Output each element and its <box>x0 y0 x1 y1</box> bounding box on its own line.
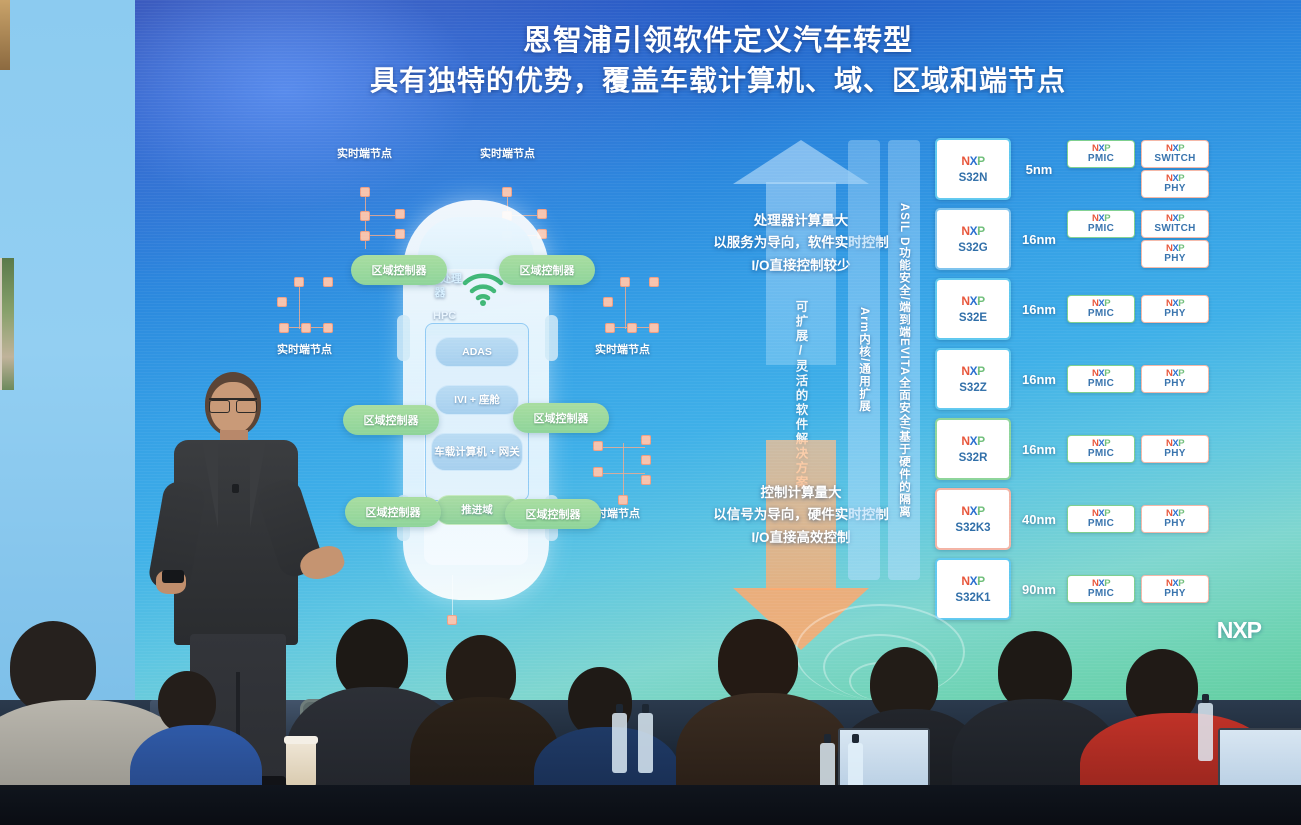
endpoint-label: 实时端节点 <box>595 341 650 357</box>
endpoint-label: 实时端节点 <box>480 145 535 161</box>
accessory-phy: NXP PHY <box>1141 505 1209 533</box>
chip-name: S32K3 <box>955 522 990 534</box>
chip-name: S32N <box>959 172 988 184</box>
chip-row: NXP S32Z 16nm NXP PMIC NXP PHY <box>935 348 1265 410</box>
accessory-label: PHY <box>1164 183 1185 194</box>
chip-box: NXP S32G <box>935 208 1011 270</box>
accessory-pmic: NXP PMIC <box>1067 210 1135 238</box>
chip-name: S32E <box>959 312 987 324</box>
accessory-label: PHY <box>1164 588 1185 599</box>
wall-artwork <box>0 258 14 390</box>
presentation-clicker <box>162 570 184 583</box>
nxp-logo-icon: NXP <box>961 505 984 517</box>
coffee-cup[interactable] <box>286 741 316 789</box>
chip-row: NXP S32G 16nm NXP PMIC NXP SWITCH <box>935 208 1265 270</box>
chip-portfolio-table: NXP S32N 5nm NXP PMIC NXP SWITCH <box>935 138 1265 628</box>
accessory-label: PMIC <box>1088 588 1114 599</box>
nxp-logo-icon: NXP <box>961 435 984 447</box>
accessory-pmic: NXP PMIC <box>1067 435 1135 463</box>
nxp-logo-icon: NXP <box>1092 299 1110 309</box>
process-node-label: 16nm <box>1011 302 1067 317</box>
nxp-logo-icon: NXP <box>961 575 984 587</box>
nxp-logo-icon: NXP <box>1092 579 1110 589</box>
accessory-phy: NXP PHY <box>1141 365 1209 393</box>
chip-box: NXP S32Z <box>935 348 1011 410</box>
jacket-lapel-left <box>202 442 218 528</box>
accessory-pmic: NXP PMIC <box>1067 295 1135 323</box>
nxp-logo-icon: NXP <box>1166 299 1184 309</box>
slide-title-line1: 恩智浦引领软件定义汽车转型 <box>135 22 1301 61</box>
accessory-label: SWITCH <box>1154 223 1195 234</box>
nxp-logo-icon: NXP <box>1166 579 1184 589</box>
wall-artwork-upper <box>0 0 10 70</box>
accessory-label: PMIC <box>1088 223 1114 234</box>
audience-table <box>0 785 1301 825</box>
chip-box: NXP S32N <box>935 138 1011 200</box>
hpc-block-ivi: IVI + 座舱 <box>435 385 519 415</box>
nxp-logo-icon: NXP <box>1166 174 1184 184</box>
water-bottle[interactable] <box>612 713 627 773</box>
chip-name: S32R <box>959 452 988 464</box>
hpc-block-vehicle-computer: 车载计算机 + 网关 <box>431 433 523 471</box>
feature-column-functional-safety: ASIL D功能安全/端到端EVITA全面安全/基于硬件的隔离 <box>888 140 920 580</box>
nxp-logo-icon: NXP <box>1166 214 1184 224</box>
feature-column-arm-core: Arm内核/通用扩展 <box>848 140 880 580</box>
wifi-icon <box>461 271 505 307</box>
accessory-label: SWITCH <box>1154 153 1195 164</box>
hpc-label: HPC <box>433 310 456 322</box>
nxp-logo-icon: NXP <box>1092 509 1110 519</box>
accessory-phy: NXP PHY <box>1141 240 1209 268</box>
chip-box: NXP S32K3 <box>935 488 1011 550</box>
accessory-label: PHY <box>1164 378 1185 389</box>
zone-controller-oval: 区域控制器 <box>505 499 601 529</box>
accessory-label: PMIC <box>1088 448 1114 459</box>
accessory-pmic: NXP PMIC <box>1067 365 1135 393</box>
nxp-logo-icon: NXP <box>1166 369 1184 379</box>
process-node-label: 16nm <box>1011 372 1067 387</box>
vehicle-wheel <box>397 315 410 361</box>
nxp-logo-icon: NXP <box>961 155 984 167</box>
accessory-label: PMIC <box>1088 518 1114 529</box>
accessory-switch: NXP SWITCH <box>1141 140 1209 168</box>
nxp-logo-icon: NXP <box>961 295 984 307</box>
water-bottle[interactable] <box>1198 703 1213 761</box>
chip-name: S32Z <box>959 382 987 394</box>
nxp-logo-icon: NXP <box>1092 144 1110 154</box>
process-node-label: 5nm <box>1011 162 1067 177</box>
water-bottle[interactable] <box>638 713 653 773</box>
endpoint-label: 实时端节点 <box>277 341 332 357</box>
chip-box: NXP S32E <box>935 278 1011 340</box>
chip-row: NXP S32N 5nm NXP PMIC NXP SWITCH <box>935 138 1265 200</box>
hpc-block-adas: ADAS <box>435 337 519 367</box>
zone-controller-oval: 区域控制器 <box>351 255 447 285</box>
chip-name: S32G <box>958 242 987 254</box>
nxp-logo-icon: NXP <box>961 365 984 377</box>
audience <box>0 612 1301 825</box>
nxp-logo-icon: NXP <box>1166 244 1184 254</box>
accessory-pmic: NXP PMIC <box>1067 505 1135 533</box>
chip-name: S32K1 <box>955 592 990 604</box>
process-node-label: 40nm <box>1011 512 1067 527</box>
accessory-label: PHY <box>1164 448 1185 459</box>
nxp-logo-icon: NXP <box>961 225 984 237</box>
nxp-logo-icon: NXP <box>1166 144 1184 154</box>
accessory-phy: NXP PHY <box>1141 575 1209 603</box>
chip-row: NXP S32E 16nm NXP PMIC NXP PHY <box>935 278 1265 340</box>
left-wall-panel <box>0 0 140 700</box>
zone-controller-oval: 区域控制器 <box>513 403 609 433</box>
vehicle-wheel <box>545 315 558 361</box>
accessory-phy: NXP PHY <box>1141 295 1209 323</box>
process-node-label: 16nm <box>1011 442 1067 457</box>
eyeglasses <box>209 398 257 409</box>
zone-controller-oval: 区域控制器 <box>499 255 595 285</box>
accessory-pmic: NXP PMIC <box>1067 140 1135 168</box>
nxp-logo-icon: NXP <box>1166 439 1184 449</box>
conference-room-scene: 恩智浦引领软件定义汽车转型 具有独特的优势，覆盖车载计算机、域、区域和端节点 实… <box>0 0 1301 825</box>
nxp-logo-icon: NXP <box>1166 509 1184 519</box>
audience-head <box>158 671 216 733</box>
laptop-screen <box>1218 728 1301 792</box>
accessory-phy: NXP PHY <box>1141 435 1209 463</box>
accessory-label: PMIC <box>1088 378 1114 389</box>
accessory-label: PHY <box>1164 253 1185 264</box>
chip-row: NXP S32R 16nm NXP PMIC NXP PHY <box>935 418 1265 480</box>
accessory-pmic: NXP PMIC <box>1067 575 1135 603</box>
accessory-switch: NXP SWITCH <box>1141 210 1209 238</box>
accessory-label: PHY <box>1164 518 1185 529</box>
accessory-label: PMIC <box>1088 308 1114 319</box>
nxp-logo-icon: NXP <box>1092 214 1110 224</box>
accessory-label: PMIC <box>1088 153 1114 164</box>
chip-box: NXP S32R <box>935 418 1011 480</box>
lapel-microphone <box>232 484 239 493</box>
accessory-phy: NXP PHY <box>1141 170 1209 198</box>
chip-row: NXP S32K1 90nm NXP PMIC NXP PHY <box>935 558 1265 620</box>
nxp-logo-icon: NXP <box>1092 439 1110 449</box>
process-node-label: 90nm <box>1011 582 1067 597</box>
chip-row: NXP S32K3 40nm NXP PMIC NXP PHY <box>935 488 1265 550</box>
accessory-label: PHY <box>1164 308 1185 319</box>
chip-box: NXP S32K1 <box>935 558 1011 620</box>
endpoint-label: 实时端节点 <box>337 145 392 161</box>
slide-title-line2: 具有独特的优势，覆盖车载计算机、域、区域和端节点 <box>135 61 1301 102</box>
nxp-logo-icon: NXP <box>1092 369 1110 379</box>
process-node-label: 16nm <box>1011 232 1067 247</box>
slide-title: 恩智浦引领软件定义汽车转型 具有独特的优势，覆盖车载计算机、域、区域和端节点 <box>135 22 1301 102</box>
